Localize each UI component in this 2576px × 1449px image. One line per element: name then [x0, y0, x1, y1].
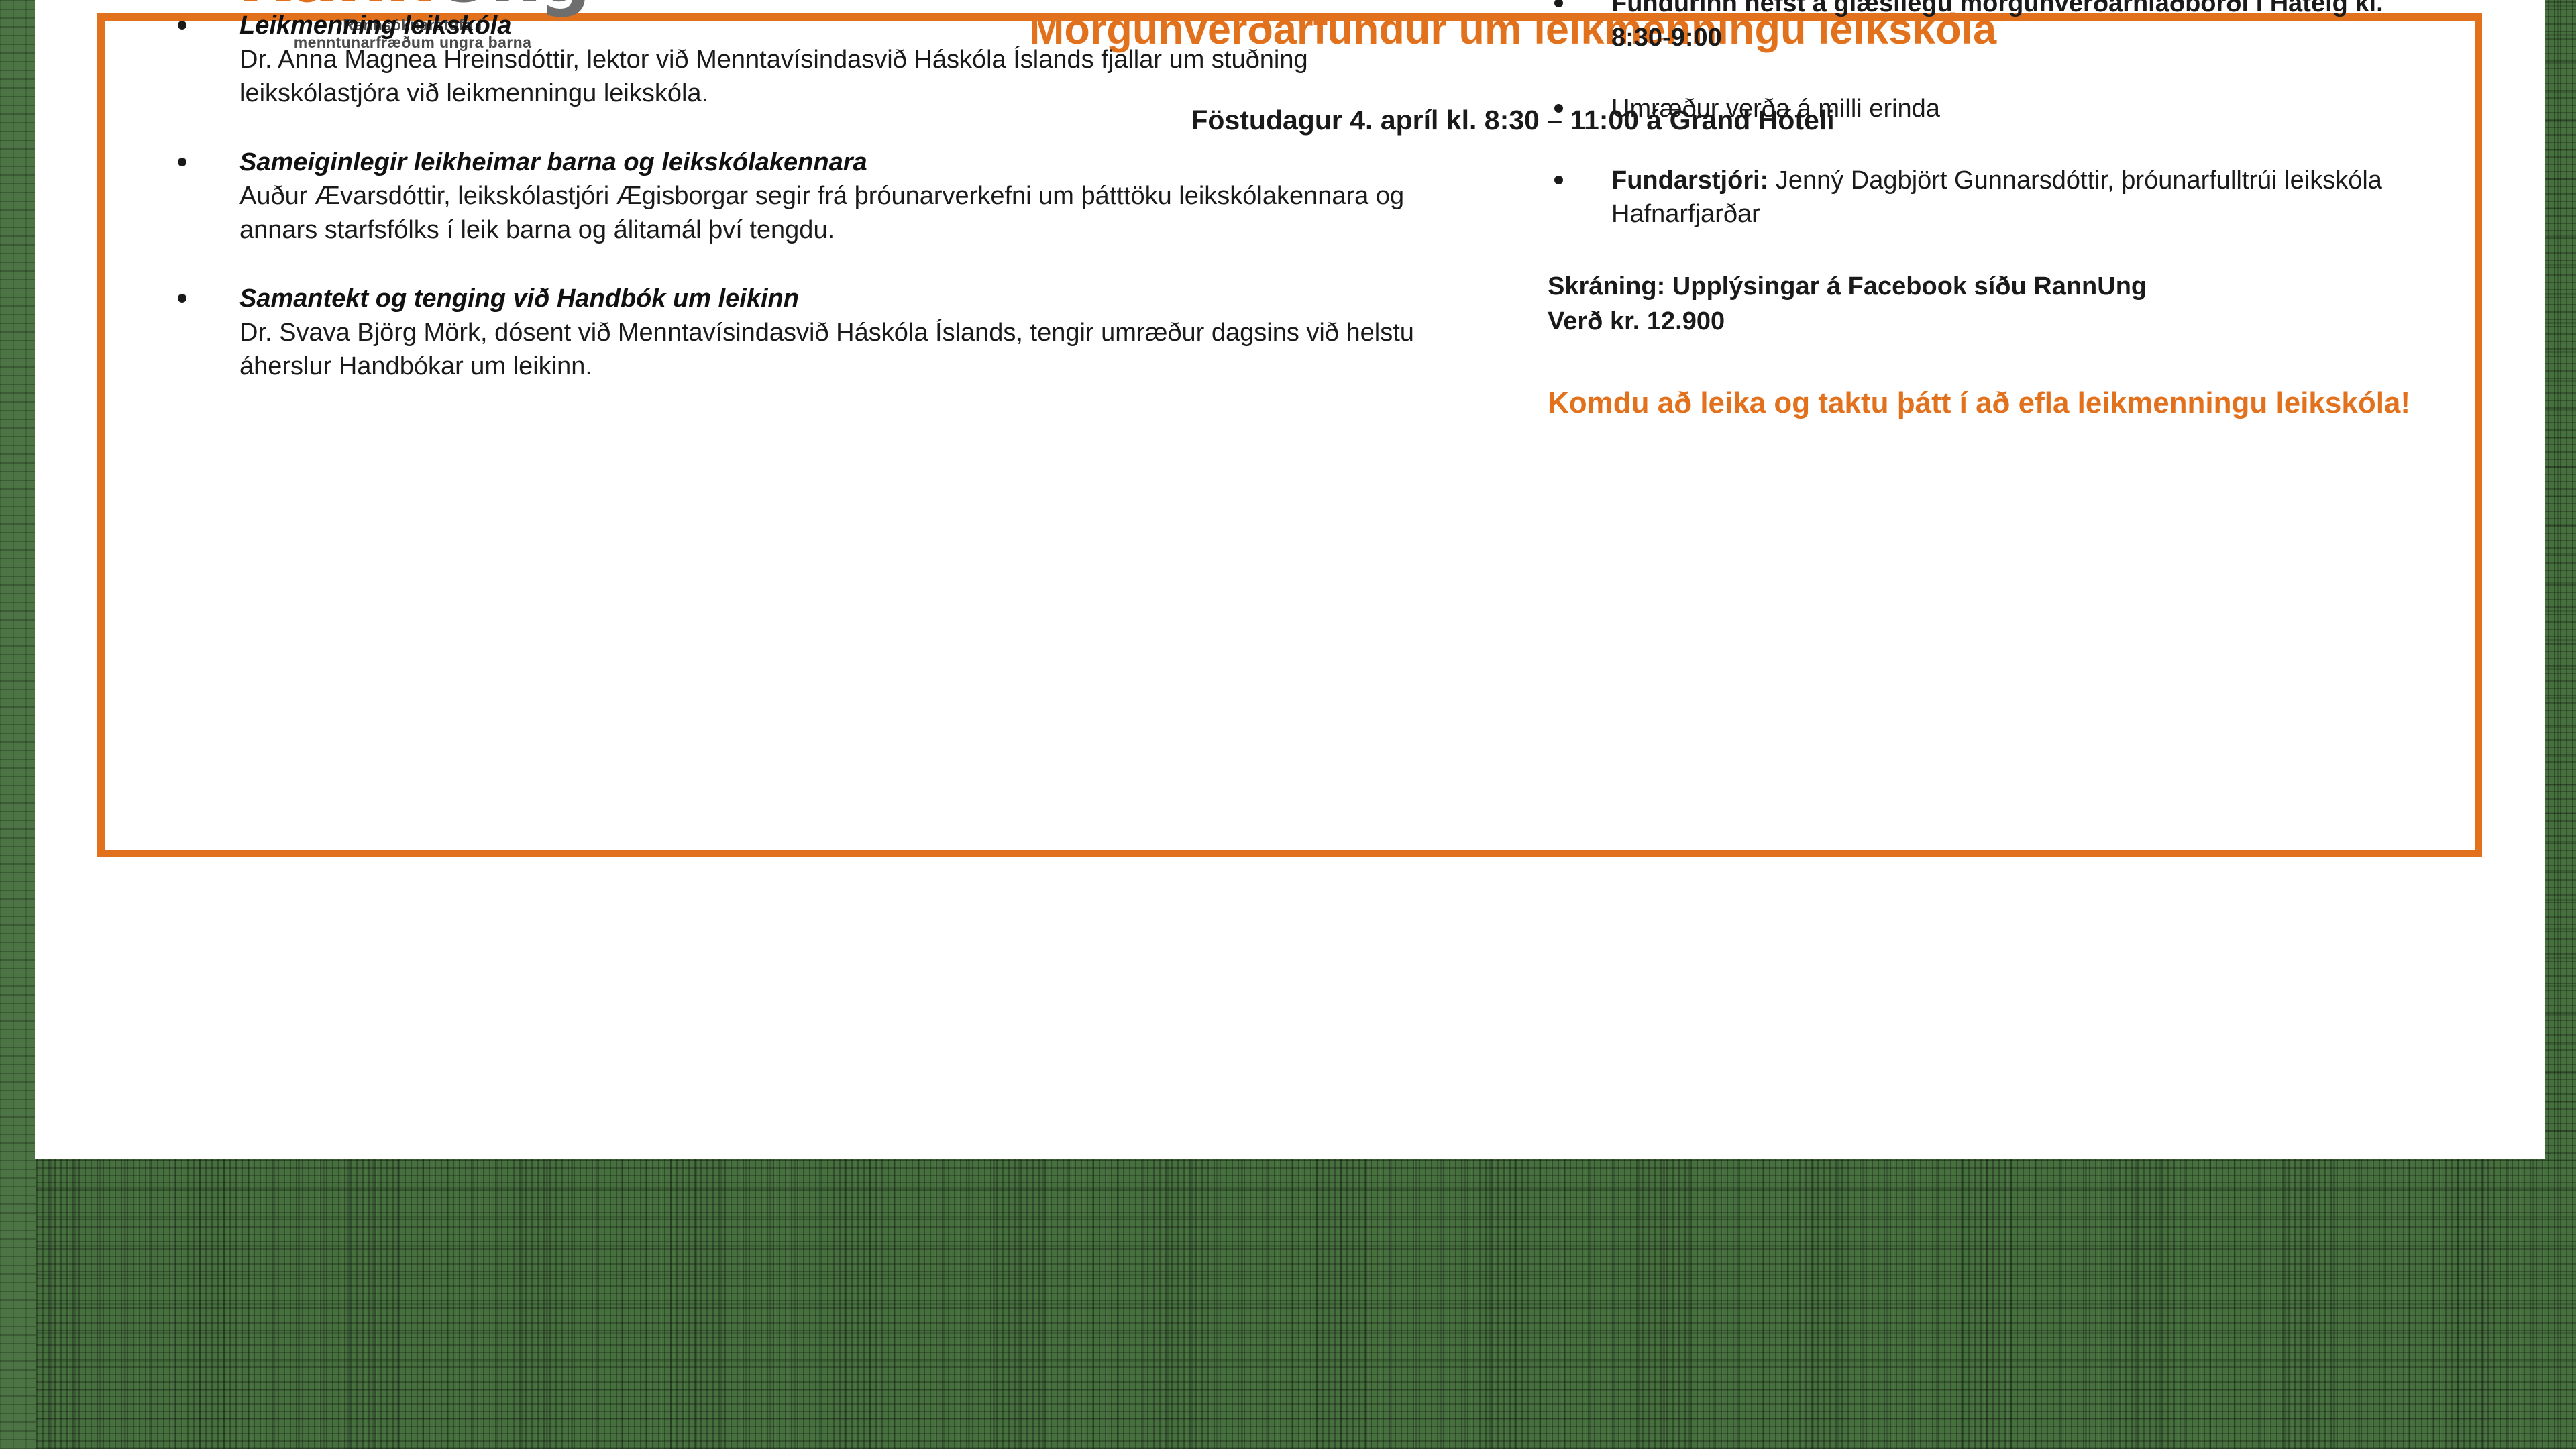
info-item-text: Fundurinn hefst á glæsilegu morgunverðar…: [1611, 0, 2433, 54]
bullet-dot-icon: [1554, 0, 1563, 7]
agenda-item-body: Dr. Svava Björg Mörk, dósent við Menntav…: [239, 316, 1447, 384]
slide-viewport: RannUng Rannsóknarstofa í menntunarfræðu…: [0, 0, 2576, 1449]
registration-line-2: Verð kr. 12.900: [1548, 304, 2433, 339]
info-item: Fundurinn hefst á glæsilegu morgunverðar…: [1548, 0, 2433, 54]
bullet-dot-icon: [178, 21, 186, 30]
agenda-item-heading: Samantekt og tenging við Handbók um leik…: [239, 282, 1447, 316]
call-to-action: Komdu að leika og taktu þátt í að efla l…: [1548, 383, 2433, 423]
slide-canvas[interactable]: RannUng Rannsóknarstofa í menntunarfræðu…: [35, 0, 2545, 1159]
agenda-item-heading: Leikmenning leikskóla: [239, 9, 1447, 43]
agenda-item: Leikmenning leikskóla Dr. Anna Magnea Hr…: [172, 9, 1447, 111]
agenda-item-body: Dr. Anna Magnea Hreinsdóttir, lektor við…: [239, 43, 1447, 111]
agenda-list: Leikur og félagsleg sjálfbærni Dr. Rober…: [172, 0, 1447, 384]
workspace-left-strip: [0, 0, 36, 1449]
info-item-text: Fundarstjóri: Jenný Dagbjört Gunnarsdótt…: [1611, 164, 2433, 231]
info-item: Fundarstjóri: Jenný Dagbjört Gunnarsdótt…: [1548, 164, 2433, 231]
bullet-dot-icon: [1554, 104, 1563, 113]
info-item-label: Fundarstjóri:: [1611, 166, 1768, 195]
bullet-dot-icon: [178, 294, 186, 303]
agenda-item-body: Auður Ævarsdóttir, leikskólastjóri Ægisb…: [239, 179, 1447, 247]
info-item: Umræður verða á milli erinda: [1548, 92, 2433, 126]
info-item-text: Umræður verða á milli erinda: [1611, 92, 2433, 126]
agenda-item: Sameiginlegir leikheimar barna og leiksk…: [172, 146, 1447, 248]
bullet-dot-icon: [178, 158, 186, 166]
registration-line-1: Skráning: Upplýsingar á Facebook síðu Ra…: [1548, 269, 2433, 304]
practical-info-list: Fundurinn hefst á glæsilegu morgunverðar…: [1548, 0, 2433, 423]
agenda-item: Samantekt og tenging við Handbók um leik…: [172, 282, 1447, 384]
agenda-item-heading: Sameiginlegir leikheimar barna og leiksk…: [239, 146, 1447, 180]
bullet-dot-icon: [1554, 176, 1563, 184]
